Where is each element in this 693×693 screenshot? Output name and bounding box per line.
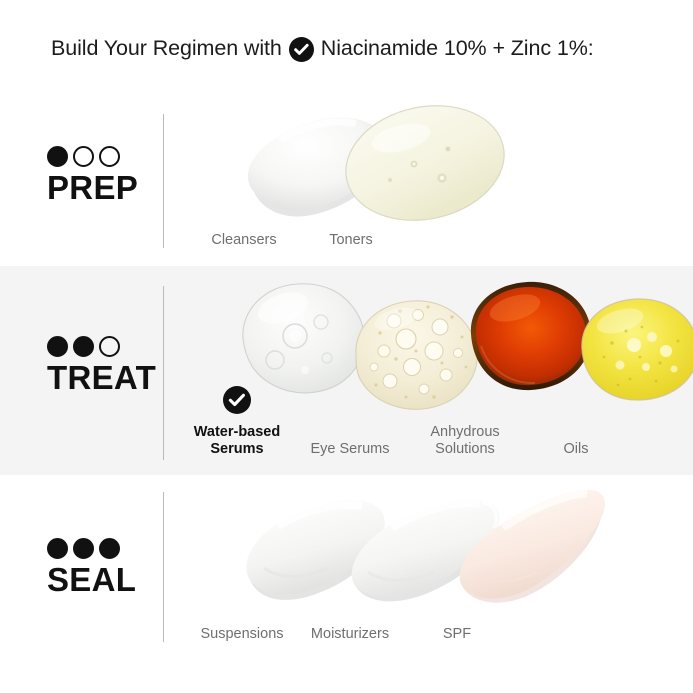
product-label-anhydrous-solutions: Anhydrous Solutions	[430, 424, 499, 458]
stage-dot-filled	[47, 538, 68, 559]
stage-dots-seal	[47, 538, 163, 559]
stage-dots-prep	[47, 146, 163, 167]
product-row-prep: Cleansers	[183, 100, 415, 249]
product-row-treat: Water-based Serums	[178, 274, 634, 458]
tinted-cream-swipe-icon	[453, 486, 613, 612]
product-label-suspensions: Suspensions	[200, 626, 283, 643]
header-text-before: Build Your Regimen with	[51, 36, 282, 61]
product-label-moisturizers: Moisturizers	[311, 626, 389, 643]
check-circle-icon	[289, 37, 314, 62]
stage-dot-empty	[73, 146, 94, 167]
stage-dot-filled	[99, 538, 120, 559]
header-title: Build Your Regimen with Niacinamide 10% …	[51, 36, 594, 61]
product-anhydrous-solutions[interactable]: Anhydrous Solutions	[406, 274, 524, 458]
product-label-cleansers: Cleansers	[211, 232, 276, 249]
product-label-eye-serums: Eye Serums	[311, 441, 390, 458]
product-label-water-based-serums: Water-based Serums	[194, 424, 280, 458]
product-label-toners: Toners	[329, 232, 373, 249]
product-eye-serums[interactable]: Eye Serums	[290, 291, 410, 458]
divider-treat	[163, 286, 164, 460]
stage-dot-filled	[73, 336, 94, 357]
stage-dot-empty	[99, 146, 120, 167]
product-oils[interactable]: Oils	[518, 291, 634, 458]
product-row-seal: Suspensions Moisturizers	[180, 482, 516, 643]
product-spf[interactable]: SPF	[398, 482, 516, 643]
check-circle-icon	[223, 386, 251, 414]
stage-dot-filled	[47, 146, 68, 167]
page-header: Build Your Regimen with Niacinamide 10% …	[0, 0, 693, 96]
stage-dot-filled	[73, 538, 94, 559]
stage-dots-treat	[47, 336, 163, 357]
stage-name-prep: PREP	[47, 171, 163, 206]
stage-dot-empty	[99, 336, 120, 357]
product-label-spf: SPF	[443, 626, 471, 643]
header-text-after: Niacinamide 10% + Zinc 1%:	[321, 36, 594, 61]
product-moisturizers[interactable]: Moisturizers	[288, 482, 412, 643]
divider-seal	[163, 492, 164, 642]
stage-seal: SEAL	[47, 538, 163, 598]
stage-name-seal: SEAL	[47, 563, 163, 598]
product-toners[interactable]: Toners	[287, 100, 415, 249]
liquid-puddle-icon	[341, 102, 509, 224]
stage-name-treat: TREAT	[47, 361, 163, 396]
product-suspensions[interactable]: Suspensions	[180, 482, 304, 643]
stage-prep: PREP	[47, 146, 163, 206]
stage-treat: TREAT	[47, 336, 163, 396]
yellow-oil-drop-icon	[574, 293, 693, 411]
product-label-oils: Oils	[564, 441, 589, 458]
stage-dot-filled	[47, 336, 68, 357]
divider-prep	[163, 114, 164, 248]
product-water-based-serums[interactable]: Water-based Serums	[178, 274, 296, 458]
